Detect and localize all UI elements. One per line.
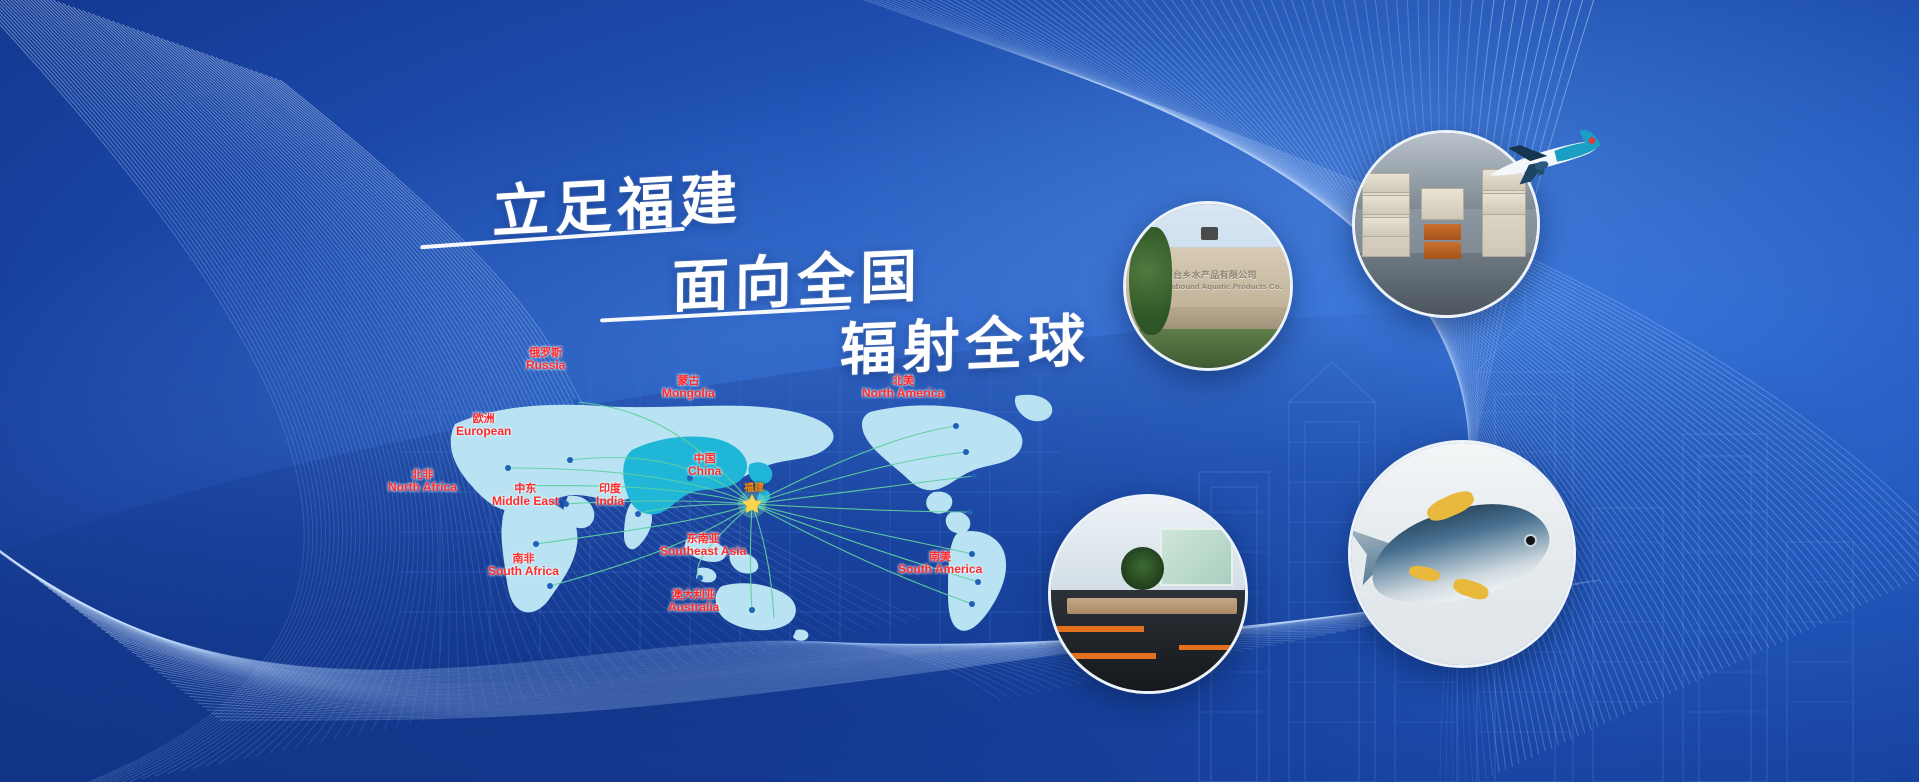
factory-sign-photo: 石狮市海台乡水产品有限公司 Shishi Seabound Aquatic Pr… xyxy=(1126,204,1290,368)
photo-circle-tuna[interactable] xyxy=(1348,440,1576,668)
center-pallet xyxy=(1421,188,1465,221)
box-row xyxy=(1362,173,1409,193)
box-row xyxy=(1482,193,1526,215)
office-plant xyxy=(1121,547,1164,590)
headline-line-2: 面向全国 xyxy=(672,230,923,323)
wall-lamp-icon xyxy=(1201,227,1218,240)
office-glass-partition xyxy=(1160,528,1234,586)
photo-circle-office[interactable] xyxy=(1048,494,1248,694)
tree xyxy=(1129,227,1172,335)
desk-surface xyxy=(1067,598,1238,614)
tuna-photo xyxy=(1351,443,1573,665)
warehouse-floor xyxy=(1355,253,1537,315)
desk-accent-stripe xyxy=(1055,653,1156,659)
desk-accent-stripe xyxy=(1179,645,1237,650)
office-photo xyxy=(1051,497,1245,691)
box-row xyxy=(1362,195,1409,215)
headline-underline-1 xyxy=(420,227,685,249)
banner-stage: 立足福建 面向全国 辐射全球 xyxy=(0,0,1919,782)
world-map-svg xyxy=(400,372,1060,652)
headline-underline-2 xyxy=(600,305,850,322)
box-row xyxy=(1362,217,1409,237)
headline-line-1: 立足福建 xyxy=(492,153,743,249)
headline-block: 立足福建 面向全国 辐射全球 xyxy=(0,0,1100,380)
world-map: 俄罗斯Russia 蒙古Mongolia 中国China 欧洲European … xyxy=(400,372,1060,652)
office-desks xyxy=(1051,590,1245,691)
desk-accent-stripe xyxy=(1055,626,1144,632)
map-label-russia: 俄罗斯Russia xyxy=(526,348,565,371)
photo-circle-factory-sign[interactable]: 石狮市海台乡水产品有限公司 Shishi Seabound Aquatic Pr… xyxy=(1123,201,1293,371)
orange-crate xyxy=(1424,242,1460,258)
airplane-icon xyxy=(1478,128,1608,190)
orange-crate xyxy=(1424,224,1460,240)
map-home-star xyxy=(738,490,766,518)
